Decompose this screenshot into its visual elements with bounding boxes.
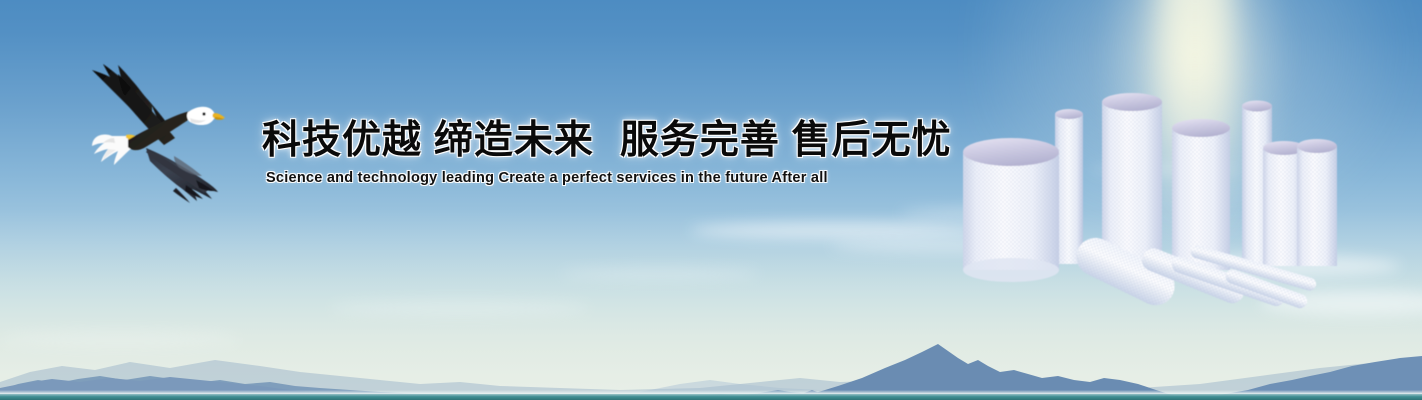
- hero-banner: 科技优越 缔造未来服务完善 售后无忧 Science and technolog…: [0, 0, 1422, 400]
- banner-headline: 科技优越 缔造未来服务完善 售后无忧: [262, 118, 952, 164]
- wispy-cloud-icon: [560, 268, 760, 280]
- filter-cartridge-cylinders-icon: [945, 90, 1365, 310]
- headline-phrase-1: 科技优越 缔造未来: [262, 119, 594, 162]
- headline-phrase-2: 服务完善 售后无忧: [620, 119, 952, 162]
- bald-eagle-soaring-icon: [78, 52, 228, 217]
- banner-subtitle: Science and technology leading Create a …: [266, 170, 828, 186]
- water-strip: [0, 394, 1422, 400]
- mountain-range-icon: [0, 310, 1422, 400]
